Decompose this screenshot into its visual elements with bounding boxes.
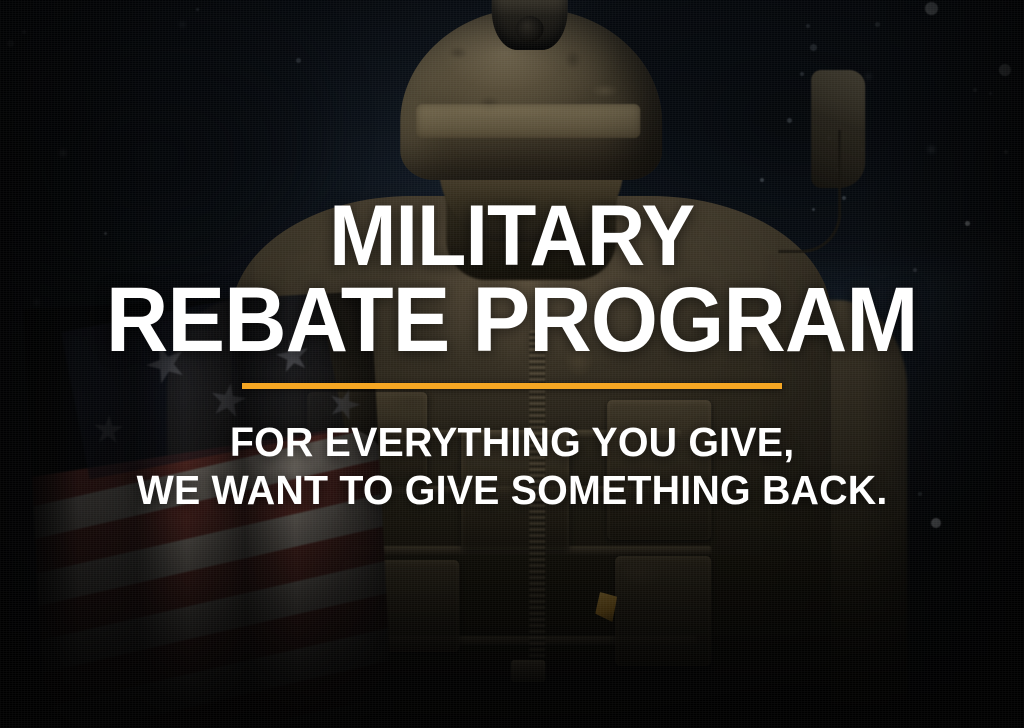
headline-line-2: REBATE PROGRAM (106, 277, 918, 363)
headline-line-1: MILITARY (106, 196, 918, 277)
page-title: MILITARY REBATE PROGRAM (106, 196, 918, 363)
accent-divider (242, 383, 782, 389)
subheadline-line-1: FOR EVERYTHING YOU GIVE, (137, 419, 888, 467)
banner-content: MILITARY REBATE PROGRAM FOR EVERYTHING Y… (0, 0, 1024, 728)
subheadline-line-2: WE WANT TO GIVE SOMETHING BACK. (137, 467, 888, 515)
military-rebate-banner: MILITARY REBATE PROGRAM FOR EVERYTHING Y… (0, 0, 1024, 728)
subheadline: FOR EVERYTHING YOU GIVE, WE WANT TO GIVE… (137, 419, 888, 514)
